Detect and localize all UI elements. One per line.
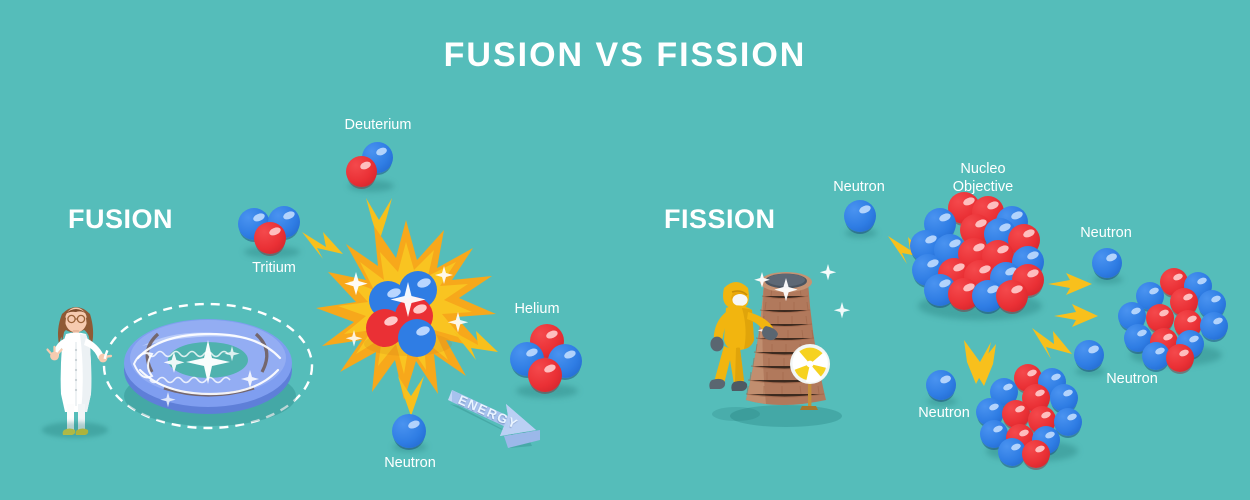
proton-particle xyxy=(254,222,286,254)
label-neutron-bottom-left: Neutron xyxy=(906,404,982,422)
neutron-particle xyxy=(844,200,876,232)
proton-particle xyxy=(1166,344,1194,372)
energy-output-arrow: ENERGY xyxy=(440,362,568,460)
proton-particle xyxy=(1022,440,1050,468)
deuterium-nucleus xyxy=(344,140,400,196)
label-helium: Helium xyxy=(498,300,576,318)
label-deuterium: Deuterium xyxy=(336,116,420,134)
label-neutron-top-right: Neutron xyxy=(1068,224,1144,242)
label-nucleo-objective-line1: Nucleo xyxy=(960,161,1005,177)
cooling-tower-svg xyxy=(702,248,862,438)
fusion-section-title: FUSION xyxy=(68,204,173,235)
label-incoming-neutron: Neutron xyxy=(822,178,896,196)
nuclear-plant-scene xyxy=(702,248,862,438)
page-title: FUSION VS FISSION xyxy=(0,36,1250,75)
neutron-particle xyxy=(1054,408,1082,436)
proton-particle xyxy=(346,156,377,187)
fission-section-title: FISSION xyxy=(664,204,776,235)
arrow-fission-emission-1 xyxy=(1046,272,1094,300)
label-neutron-bottom-right: Neutron xyxy=(1094,370,1170,388)
target-nucleus xyxy=(908,192,1054,326)
tokamak-svg xyxy=(98,284,318,446)
fusion-free-neutron xyxy=(390,414,434,454)
infographic-canvas: FUSION VS FISSION FUSION FISSION xyxy=(0,0,1250,500)
fission-fragment-bottom xyxy=(976,364,1088,468)
neutron-particle xyxy=(1200,312,1228,340)
neutron-particle xyxy=(926,370,956,400)
arrow-core-to-neutron xyxy=(392,374,430,418)
label-fusion-neutron: Neutron xyxy=(372,454,448,472)
tokamak-reactor xyxy=(98,284,318,446)
fission-fragment-right xyxy=(1118,268,1234,372)
label-nucleo-objective: Nucleo Objective xyxy=(942,160,1024,196)
neutron-particle xyxy=(392,414,426,448)
incoming-neutron xyxy=(842,200,884,242)
proton-particle xyxy=(996,280,1028,312)
tritium-nucleus xyxy=(238,204,308,262)
arrow-fission-emission-3 xyxy=(1030,326,1074,368)
